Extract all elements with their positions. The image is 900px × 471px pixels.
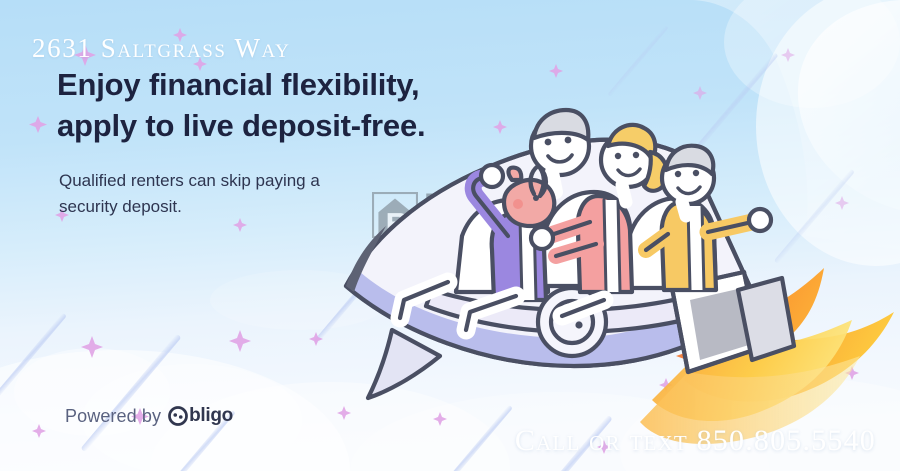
property-address: 2631 Saltgrass Way xyxy=(32,33,290,64)
powered-by-label: Powered by xyxy=(65,406,161,427)
headline-line-2: apply to live deposit-free. xyxy=(57,105,497,146)
copy-block: 2631 Saltgrass Way Enjoy financial flexi… xyxy=(0,0,520,471)
subcopy: Qualified renters can skip paying a secu… xyxy=(59,168,419,220)
powered-by-obligo: Powered by bligo xyxy=(65,405,233,427)
headline: Enjoy financial flexibility, apply to li… xyxy=(57,64,497,146)
obligo-rental-banner: REAL PROPERTY MANAGEMENT HOMEBASE a neig… xyxy=(0,0,900,471)
obligo-wordmark: bligo xyxy=(189,405,233,427)
subcopy-line-1: Qualified renters can skip paying a xyxy=(59,168,419,194)
phone-cta: Call or text 850.805.5540 xyxy=(515,424,876,458)
headline-line-1: Enjoy financial flexibility, xyxy=(57,64,497,105)
obligo-logo: bligo xyxy=(168,405,233,427)
subcopy-line-2: security deposit. xyxy=(59,194,419,220)
obligo-face-icon xyxy=(168,406,188,426)
